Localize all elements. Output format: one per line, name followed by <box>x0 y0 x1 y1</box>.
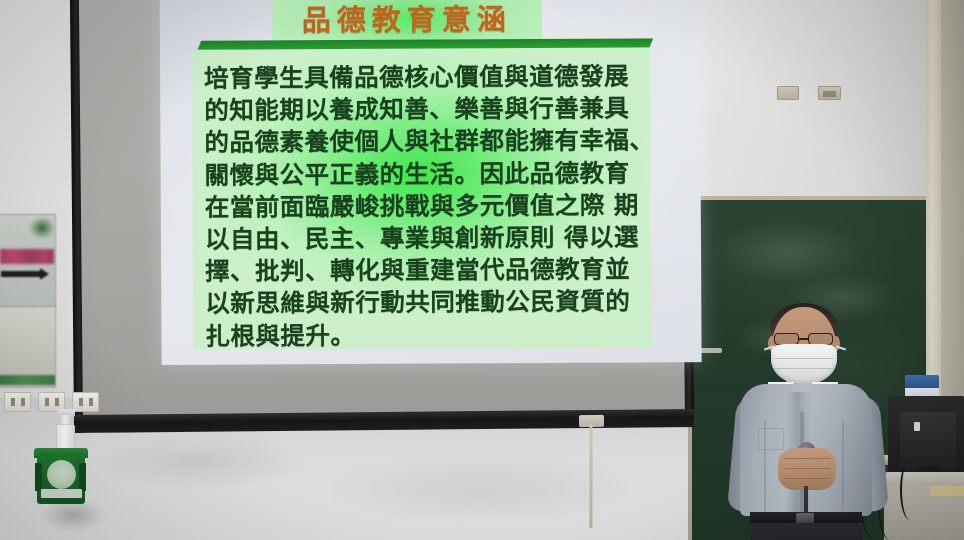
outlet-slot <box>79 398 83 406</box>
slide-body-line: 扎根與提升。 <box>205 318 641 350</box>
wall-poster-upper <box>0 214 56 308</box>
bin-emblem <box>47 460 76 489</box>
outlet-slot <box>21 398 25 406</box>
slide-body-line: 以自由、民主、專業與創新原則 得以選 <box>205 221 641 255</box>
eyeglass-bridge <box>799 338 809 340</box>
slide-body-line: 培育學生具備品德核心價值與道德發展 <box>204 60 640 94</box>
poster-title-text <box>0 249 54 264</box>
slide-body-box: 培育學生具備品德核心價值與道德發展 的知能期以養成知善、樂善與行善兼具 的品德素… <box>192 47 652 349</box>
shirt-crease <box>764 420 766 512</box>
slide-body-line: 的知能期以養成知善、樂善與行善兼具 <box>204 93 640 127</box>
wall-plate-marking <box>823 91 836 97</box>
projected-slide: 品德教育意涵 培育學生具備品德核心價值與道德發展 的知能期以養成知善、樂善與行善… <box>160 0 702 365</box>
mask-fold <box>774 368 834 369</box>
slide-title: 品德教育意涵 <box>302 5 512 35</box>
trousers <box>750 523 862 540</box>
finger-line <box>784 458 830 459</box>
slide-body-line: 關懷與公平正義的生活。因此品德教育 <box>205 157 641 191</box>
outlet-slot <box>55 398 59 406</box>
screen-pull-cord[interactable] <box>589 424 592 528</box>
podium-edge-trim <box>930 486 964 496</box>
mask-fold <box>774 358 834 359</box>
power-outlet-1[interactable] <box>4 392 31 412</box>
finger-line <box>784 478 830 479</box>
outlet-slot <box>89 398 93 406</box>
chalk-stick <box>700 348 722 353</box>
bin-side-tab <box>35 463 42 491</box>
poster-graphic <box>29 217 55 239</box>
slide-body-line: 的品德素養使個人與社群都能擁有幸福、 <box>204 125 640 159</box>
chalk-smear <box>712 222 862 282</box>
screen-surface: 品德教育意涵 培育學生具備品德核心價值與道德發展 的知能期以養成知善、樂善與行善… <box>79 0 685 416</box>
poster-arrow-icon <box>1 271 41 277</box>
shirt-pocket <box>758 428 784 450</box>
lecture-room-photo: 品德教育意涵 培育學生具備品德核心價值與道德發展 的知能期以養成知善、樂善與行善… <box>0 0 964 540</box>
slide-body-line: 在當前面臨嚴峻挑戰與多元價值之際 期 <box>205 189 641 223</box>
wall-plate-left <box>777 86 799 100</box>
presenter <box>724 300 904 540</box>
projection-screen: 品德教育意涵 培育學生具備品德核心價值與道德發展 的知能期以養成知善、樂善與行善… <box>70 0 694 439</box>
wall-smudge <box>330 455 630 525</box>
wall-plate-right <box>818 86 841 100</box>
outlet-slot <box>11 398 15 406</box>
shirt-crease <box>842 422 844 510</box>
face-mask <box>771 344 837 384</box>
bin-side-tab <box>79 463 86 491</box>
poster-footer-band <box>0 375 56 385</box>
wall-smudge <box>96 430 306 490</box>
bin-label <box>41 489 82 498</box>
finger-line <box>784 468 830 469</box>
blue-tissue-box <box>905 375 939 397</box>
slide-body-line: 以新思維與新行動共同推動公民資質的 <box>205 286 641 320</box>
slide-title-box: 品德教育意涵 <box>272 0 542 42</box>
slide-body-line: 擇、批判、轉化與重建當代品德教育並 <box>205 254 641 288</box>
outlet-slot <box>45 398 49 406</box>
wall-poster-lower <box>0 306 56 388</box>
power-outlet-3[interactable] <box>72 392 99 412</box>
monitor-port <box>914 422 920 431</box>
